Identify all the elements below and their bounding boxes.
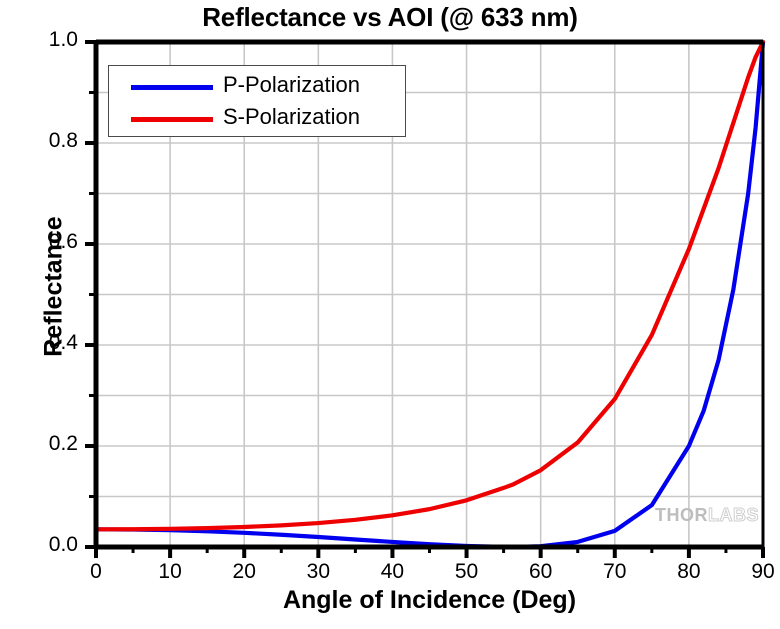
y-tick-label: 0.4 [0,331,78,355]
y-tick-label: 0.2 [0,432,78,456]
legend-item-s-polarization: S-Polarization [109,104,405,134]
y-tick-label: 0.6 [0,230,78,254]
x-tick-label: 30 [288,560,348,584]
legend-label-s-polarization: S-Polarization [223,104,360,130]
x-tick-label: 90 [733,560,780,584]
legend-label-p-polarization: P-Polarization [223,72,360,98]
y-tick-label: 0.0 [0,533,78,557]
x-axis-title: Angle of Incidence (Deg) [96,586,763,615]
y-axis-title: Reflectance [40,147,69,427]
chart-canvas: Reflectance vs AOI (@ 633 nm) Reflectanc… [0,0,780,629]
x-tick-label: 0 [66,560,126,584]
y-tick-label: 1.0 [0,28,78,52]
x-tick-label: 60 [511,560,571,584]
legend-swatch-s-polarization [131,117,213,122]
x-tick-label: 40 [362,560,422,584]
x-tick-label: 20 [214,560,274,584]
x-tick-label: 70 [585,560,645,584]
x-tick-label: 10 [140,560,200,584]
legend-swatch-p-polarization [131,85,213,90]
legend-item-p-polarization: P-Polarization [109,72,405,102]
y-tick-label: 0.8 [0,129,78,153]
x-tick-label: 50 [437,560,497,584]
x-tick-label: 80 [659,560,719,584]
legend: P-Polarization S-Polarization [108,65,406,137]
